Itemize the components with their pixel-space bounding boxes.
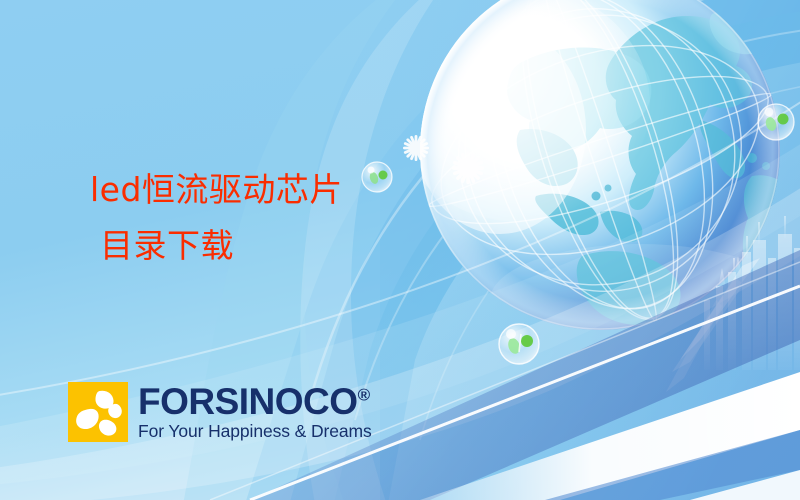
bubble-sprout-middle — [499, 324, 539, 364]
sparkle-star-left — [403, 135, 429, 161]
promotional-banner: led恒流驱动芯片 目录下载 FORSINOCO® For Your Happi… — [0, 0, 800, 500]
logo-text-block: FORSINOCO® For Your Happiness & Dreams — [138, 384, 372, 441]
logo-wordmark: FORSINOCO® — [138, 384, 372, 420]
logo-wordmark-text: FORSINOCO — [138, 381, 358, 422]
bubble-sprout-right — [758, 104, 794, 140]
registered-trademark-icon: ® — [358, 385, 370, 404]
logo-tagline: For Your Happiness & Dreams — [138, 421, 372, 441]
bubble-sprout-top — [362, 162, 392, 192]
sparkle-star-right — [452, 152, 484, 184]
company-logo[interactable]: FORSINOCO® For Your Happiness & Dreams — [68, 382, 372, 442]
forsinoco-pinwheel-mark — [68, 382, 128, 442]
